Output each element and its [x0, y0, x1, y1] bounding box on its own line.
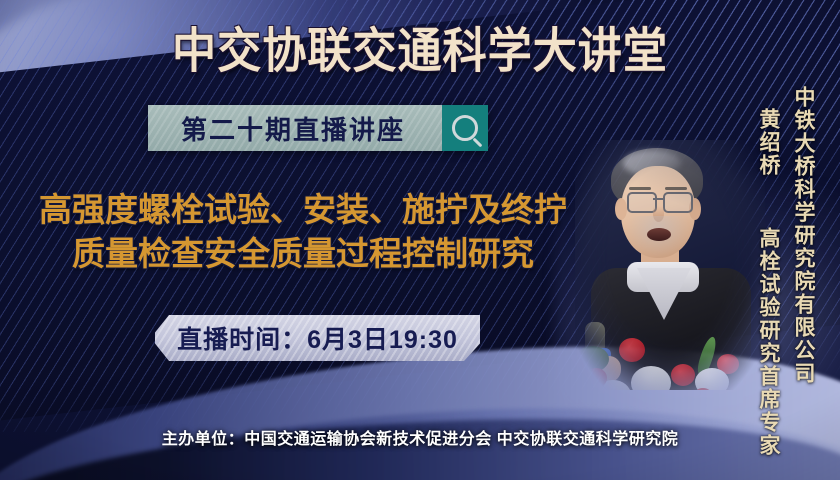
seminar-topic-line-1: 高强度螺栓试验、安装、施拧及终拧 [8, 188, 598, 232]
photo-shading-overlay [575, 140, 765, 390]
organizers-footer: 主办单位：中国交通运输协会新技术促进分会 中交协联交通科学研究院 [0, 425, 840, 449]
episode-banner: 第二十期直播讲座 [148, 105, 488, 151]
speaker-name-title: 黄绍桥 高栓试验研究首席专家 [753, 108, 783, 457]
speaker-organization: 中铁大桥科学研究院有限公司 [788, 86, 818, 385]
speaker-photo [575, 140, 765, 390]
search-button[interactable] [442, 105, 488, 151]
episode-label: 第二十期直播讲座 [148, 105, 442, 151]
page-title: 中交协联交通科学大讲堂 [34, 22, 807, 80]
broadcast-time-badge: 直播时间：6月3日19:30 [155, 315, 480, 361]
live-seminar-poster: 中交协联交通科学大讲堂 第二十期直播讲座 高强度螺栓试验、安装、施拧及终拧 质量… [0, 0, 840, 480]
seminar-topic-line-2: 质量检查安全质量过程控制研究 [8, 232, 598, 276]
seminar-topic: 高强度螺栓试验、安装、施拧及终拧 质量检查安全质量过程控制研究 [8, 188, 598, 276]
search-icon [452, 115, 478, 141]
